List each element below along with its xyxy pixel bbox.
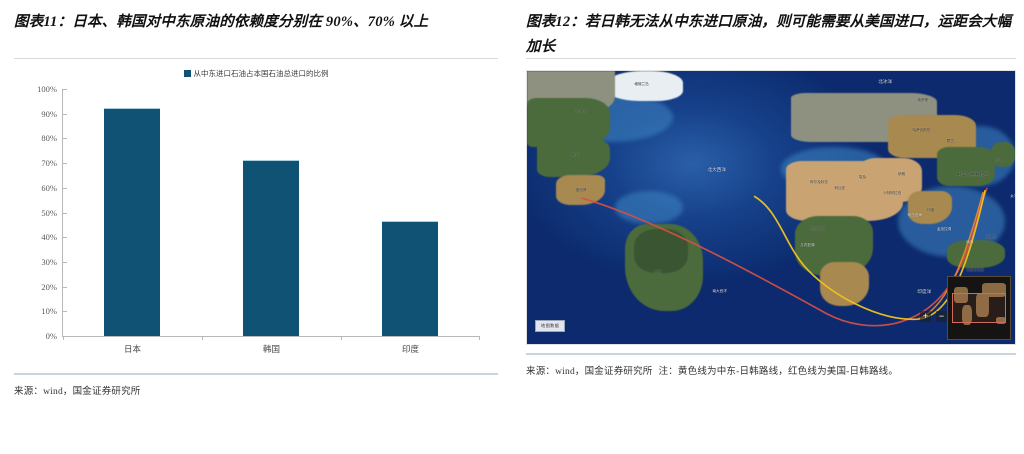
map-place-label: 俄罗斯: [917, 98, 928, 103]
shelf-caribbean: [615, 191, 683, 224]
map-place-label: 伊朗: [898, 172, 905, 177]
x-axis-tick: [341, 336, 342, 340]
zoom-in-button[interactable]: +: [920, 311, 931, 322]
bar-slot-japan: 日本: [63, 89, 202, 336]
legend-label: 从中东进口石油占本国石油总进口的比例: [194, 69, 329, 78]
bar-korea[interactable]: [243, 160, 299, 336]
map-place-label: 太平洋: [1010, 194, 1015, 199]
y-axis-tick: 0%: [46, 331, 63, 341]
x-axis-label-korea: 韩国: [202, 343, 341, 355]
map-place-label: 印度尼西亚: [966, 268, 984, 273]
x-axis-tick: [63, 336, 64, 340]
map-place-label: 蒙古: [947, 139, 954, 144]
map-place-label: 美国: [571, 153, 578, 158]
right-source-text: 来源：wind，国金证券研究所: [526, 367, 653, 377]
x-axis-tick: [479, 336, 480, 340]
map-place-label: 菲律宾: [986, 235, 997, 240]
y-axis-tick: 10%: [41, 306, 63, 316]
map-place-label: 中华人民共和国: [956, 172, 988, 178]
y-axis-tick: 70%: [41, 158, 63, 168]
map-place-label: 格陵兰岛: [634, 82, 648, 87]
landmass-amazon: [634, 229, 688, 273]
left-source-line: 来源：wind，国金证券研究所: [14, 375, 498, 403]
map-place-label: 印度: [927, 208, 934, 213]
map-place-label: 沙特阿拉伯: [883, 191, 901, 196]
map-place-label: 南大西洋: [712, 289, 726, 294]
legend-color-swatch: [184, 70, 191, 77]
map-place-label: 利比亚: [834, 186, 845, 191]
left-figure-panel: 图表11：日本、韩国对中东原油的依赖度分别在 90%、70% 以上 从中东进口石…: [0, 0, 512, 454]
map-place-label: 孟加拉湾: [937, 227, 951, 232]
map-canvas[interactable]: 北冰洋格陵兰岛加拿大美国墨西哥北大西洋巴西南大西洋阿尔及利亚利比亚尼日利亚几内亚…: [527, 71, 1015, 344]
left-source-text: 来源：wind，国金证券研究所: [14, 387, 141, 397]
left-figure-title: 图表11：日本、韩国对中东原油的依赖度分别在 90%、70% 以上: [14, 0, 498, 58]
landmass-southern-africa: [820, 262, 869, 306]
map-place-label: 埃及: [859, 175, 866, 180]
x-axis-label-japan: 日本: [63, 343, 202, 355]
map-zoom-controls[interactable]: + −: [920, 311, 947, 322]
map-place-label: 墨西哥: [576, 188, 587, 193]
bar-slot-korea: 韩国: [202, 89, 341, 336]
shipping-route-map[interactable]: 北冰洋格陵兰岛加拿大美国墨西哥北大西洋巴西南大西洋阿尔及利亚利比亚尼日利亚几内亚…: [526, 70, 1016, 345]
bar-chart: 从中东进口石油占本国石油总进口的比例 100% 90% 80% 70% 60% …: [14, 65, 498, 365]
x-axis-tick: [202, 336, 203, 340]
landmass-china: [937, 147, 996, 185]
y-axis-tick: 50%: [41, 208, 63, 218]
map-place-label: 阿尔及利亚: [810, 180, 828, 185]
landmass-indonesia: [947, 240, 1006, 267]
chart-legend: 从中东进口石油占本国石油总进口的比例: [14, 68, 498, 79]
map-place-label: 尼日利亚: [810, 227, 824, 232]
right-title-divider: [526, 58, 1016, 59]
bar-group: 日本 韩国 印度: [63, 89, 480, 336]
map-place-label: 南海: [966, 240, 973, 245]
chart-plot-area: 100% 90% 80% 70% 60% 50% 40% 30% 20% 10%…: [62, 89, 480, 337]
map-attribution-badge: 地图数据: [535, 320, 565, 332]
y-axis-tick: 40%: [41, 232, 63, 242]
y-axis-tick: 100%: [37, 84, 63, 94]
right-figure-panel: 图表12：若日韩无法从中东进口原油，则可能需要从美国进口，运距会大幅加长: [512, 0, 1024, 454]
y-axis-tick: 60%: [41, 183, 63, 193]
right-source-note: 注：黄色线为中东-日韩路线，红色线为美国-日韩路线。: [659, 367, 899, 377]
y-axis-tick: 20%: [41, 282, 63, 292]
bar-japan[interactable]: [104, 108, 160, 336]
inset-viewport-frame[interactable]: [952, 293, 1006, 323]
map-place-label: 北冰洋: [878, 79, 892, 85]
right-source-line: 来源：wind，国金证券研究所注：黄色线为中东-日韩路线，红色线为美国-日韩路线…: [526, 355, 1016, 383]
report-figure-page: 图表11：日本、韩国对中东原油的依赖度分别在 90%、70% 以上 从中东进口石…: [0, 0, 1024, 454]
y-axis-tick: 30%: [41, 257, 63, 267]
map-place-label: 日本: [995, 158, 1002, 163]
bar-india[interactable]: [382, 221, 438, 336]
bar-slot-india: 印度: [341, 89, 480, 336]
map-place-label: 巴西: [654, 270, 661, 275]
map-place-label: 北大西洋: [708, 167, 726, 173]
map-place-label: 阿拉伯海: [908, 213, 922, 218]
y-axis-tick: 90%: [41, 109, 63, 119]
right-figure-title: 图表12：若日韩无法从中东进口原油，则可能需要从美国进口，运距会大幅加长: [526, 0, 1016, 58]
map-place-label: 几内亚湾: [800, 243, 814, 248]
y-axis-tick: 80%: [41, 133, 63, 143]
map-place-label: 哈萨克斯坦: [913, 128, 931, 133]
map-place-label: 加拿大: [576, 109, 587, 114]
map-overview-inset[interactable]: [947, 276, 1011, 340]
landmass-japan: [991, 142, 1015, 167]
x-axis-label-india: 印度: [341, 343, 480, 355]
map-place-label: 印度洋: [917, 289, 931, 295]
left-title-divider: [14, 58, 498, 59]
zoom-out-button[interactable]: −: [936, 311, 947, 322]
